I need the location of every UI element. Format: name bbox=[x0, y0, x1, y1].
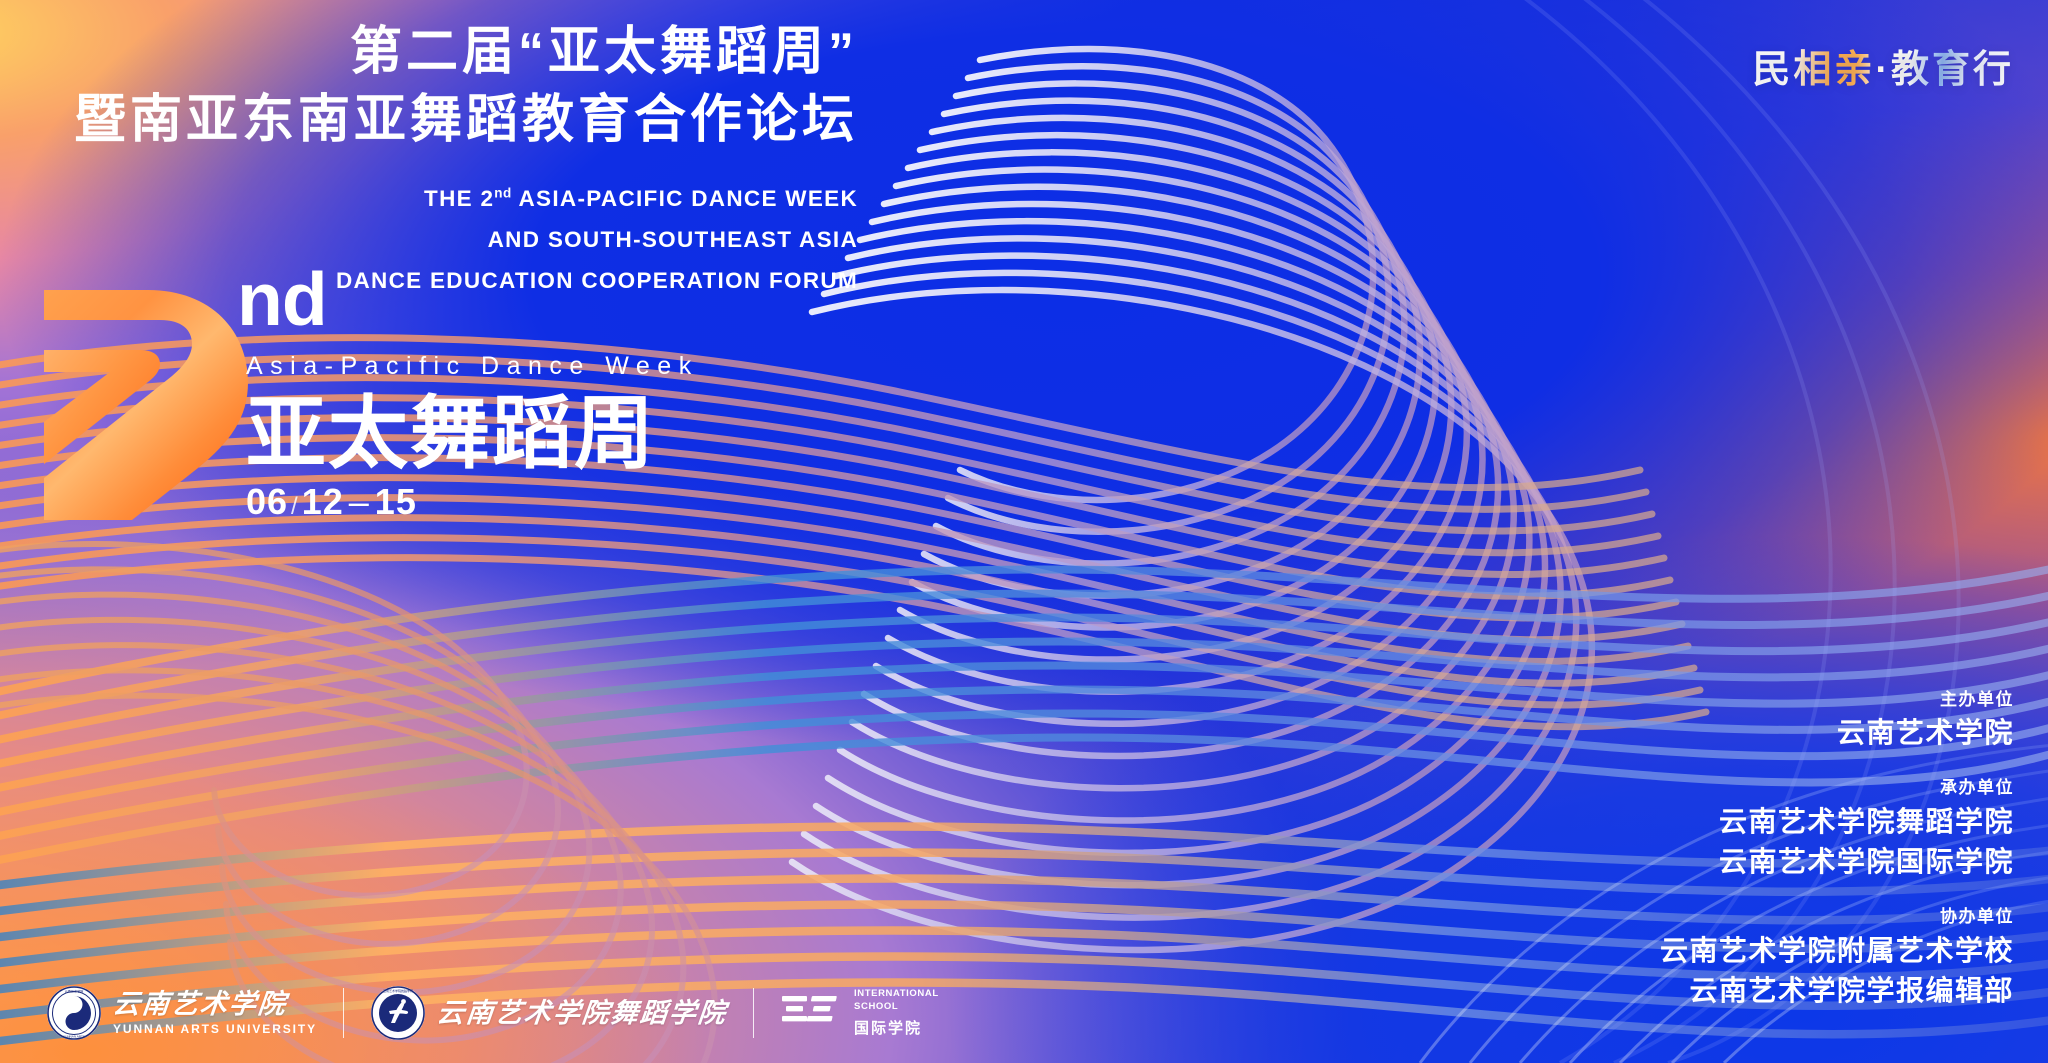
logo-text-yunnan-arts-university: 云南艺术学院 YUNNAN ARTS UNIVERSITY bbox=[113, 990, 317, 1036]
english-subtitle-line-1: THE 2nd ASIA-PACIFIC DANCE WEEK bbox=[0, 179, 858, 220]
organizer-name: 云南艺术学院舞蹈学院 bbox=[1660, 802, 2014, 842]
organizer-name: 云南艺术学院学报编辑部 bbox=[1660, 971, 2014, 1011]
logo-text-dance-college: 云南艺术学院舞蹈学院 bbox=[437, 999, 727, 1027]
date-dash: – bbox=[349, 481, 370, 522]
event-title-english: Asia-Pacific Dance Week bbox=[246, 352, 699, 381]
organizer-label-host: 主办单位 bbox=[1660, 687, 2014, 713]
svg-text:YUNNAN ARTS: YUNNAN ARTS bbox=[63, 1034, 85, 1038]
date-month: 06 bbox=[246, 481, 288, 522]
poster-canvas: 民相亲·教育行 第二届“亚太舞蹈周” 暨南亚东南亚舞蹈教育合作论坛 THE 2n… bbox=[0, 0, 2048, 1063]
organizer-label-undertaker: 承办单位 bbox=[1660, 775, 2014, 801]
logo-dance-college: 云南艺术学院舞蹈学院 云南艺术学院舞蹈学院 bbox=[370, 985, 727, 1041]
logo-name-english-line-2: SCHOOL bbox=[854, 1001, 939, 1014]
footer-logo-strip: 云南艺术学院 YUNNAN ARTS 云南艺术学院 YUNNAN ARTS UN… bbox=[46, 985, 939, 1041]
logo-name-chinese: 云南艺术学院舞蹈学院 bbox=[436, 999, 729, 1027]
event-title-block: Asia-Pacific Dance Week 亚太舞蹈周 06/12–15 bbox=[246, 352, 699, 523]
organizer-group-undertaker: 承办单位 云南艺术学院舞蹈学院 云南艺术学院国际学院 bbox=[1660, 775, 2014, 882]
organizer-name: 云南艺术学院国际学院 bbox=[1660, 842, 2014, 882]
ordinal-nd-mark: nd bbox=[237, 262, 327, 337]
ordinal-superscript: nd bbox=[494, 185, 512, 200]
organizer-group-coorganizer: 协办单位 云南艺术学院附属艺术学校 云南艺术学院学报编辑部 bbox=[1660, 904, 2014, 1011]
logo-divider bbox=[343, 988, 344, 1038]
dance-college-seal-icon: 云南艺术学院舞蹈学院 bbox=[370, 985, 426, 1041]
organizer-name: 云南艺术学院 bbox=[1660, 713, 2014, 753]
yunnan-arts-university-seal-icon: 云南艺术学院 YUNNAN ARTS bbox=[46, 985, 102, 1041]
logo-name-chinese: 国际学院 bbox=[854, 1017, 939, 1038]
organizers-block: 主办单位 云南艺术学院 承办单位 云南艺术学院舞蹈学院 云南艺术学院国际学院 协… bbox=[1660, 687, 2014, 1011]
organizer-name: 云南艺术学院附属艺术学校 bbox=[1660, 931, 2014, 971]
date-day-end: 15 bbox=[375, 481, 417, 522]
organizer-group-host: 主办单位 云南艺术学院 bbox=[1660, 687, 2014, 753]
date-separator: / bbox=[291, 493, 299, 520]
logo-name-english-line-1: INTERNATIONAL bbox=[854, 988, 939, 1001]
svg-text:云南艺术学院舞蹈学院: 云南艺术学院舞蹈学院 bbox=[383, 988, 413, 993]
poster-content: 民相亲·教育行 第二届“亚太舞蹈周” 暨南亚东南亚舞蹈教育合作论坛 THE 2n… bbox=[0, 0, 2048, 1063]
international-school-mark-icon bbox=[780, 991, 844, 1035]
svg-text:云南艺术学院: 云南艺术学院 bbox=[65, 989, 84, 994]
logo-text-international-school: INTERNATIONAL SCHOOL 国际学院 bbox=[854, 988, 939, 1037]
logo-divider bbox=[753, 988, 754, 1038]
english-line1-post: ASIA-PACIFIC DANCE WEEK bbox=[512, 186, 858, 211]
headline-block: 第二届“亚太舞蹈周” 暨南亚东南亚舞蹈教育合作论坛 THE 2nd ASIA-P… bbox=[0, 22, 858, 302]
campaign-slogan: 民相亲·教育行 bbox=[1752, 38, 2014, 93]
english-subtitle-line-2: AND SOUTH-SOUTHEAST ASIA bbox=[0, 220, 858, 261]
headline-line-2: 暨南亚东南亚舞蹈教育合作论坛 bbox=[0, 89, 858, 152]
logo-name-english: YUNNAN ARTS UNIVERSITY bbox=[113, 1022, 317, 1036]
headline-line-1: 第二届“亚太舞蹈周” bbox=[0, 22, 858, 83]
organizer-label-coorganizer: 协办单位 bbox=[1660, 904, 2014, 930]
logo-international-school: INTERNATIONAL SCHOOL 国际学院 bbox=[780, 988, 939, 1037]
event-title-chinese: 亚太舞蹈周 bbox=[246, 392, 699, 475]
date-day-start: 12 bbox=[302, 481, 344, 522]
logo-name-chinese: 云南艺术学院 bbox=[112, 990, 319, 1018]
logo-yunnan-arts-university: 云南艺术学院 YUNNAN ARTS 云南艺术学院 YUNNAN ARTS UN… bbox=[46, 985, 317, 1041]
english-line1-pre: THE 2 bbox=[424, 186, 494, 211]
event-date: 06/12–15 bbox=[246, 481, 699, 523]
